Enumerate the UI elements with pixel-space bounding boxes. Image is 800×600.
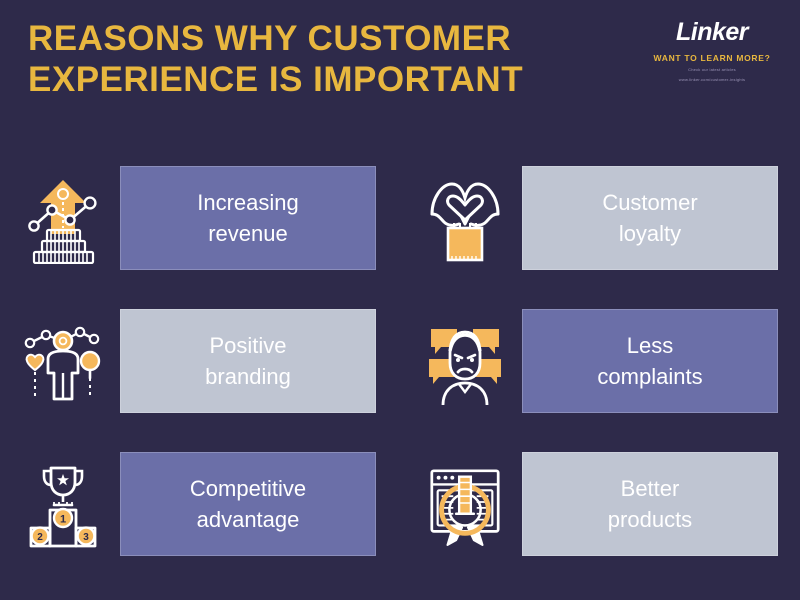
logo-subtext-line-1: Check our latest articles (652, 67, 772, 73)
growth-arrow-coins-icon (22, 170, 104, 266)
reasons-grid: Increasing revenue Customer loyalty (22, 148, 778, 574)
reason-label: Better products (608, 473, 692, 535)
svg-text:3: 3 (83, 532, 89, 543)
svg-text:2: 2 (37, 532, 43, 543)
reason-item-better-products: Better products (424, 434, 778, 574)
slide-canvas: REASONS WHY CUSTOMER EXPERIENCE IS IMPOR… (0, 0, 800, 600)
reason-label: Positive branding (205, 330, 291, 392)
reason-item-increasing-revenue: Increasing revenue (22, 148, 376, 288)
reason-card-positive-branding[interactable]: Positive branding (120, 309, 376, 413)
logo-subtext-line-2: www.linker.com/customer-insights (652, 77, 772, 83)
angry-person-speech-bubbles-icon (424, 313, 506, 409)
logo-tagline: WANT TO LEARN MORE? (652, 53, 772, 63)
reason-card-less-complaints[interactable]: Less complaints (522, 309, 778, 413)
reason-item-less-complaints: Less complaints (424, 291, 778, 431)
reason-card-competitive-advantage[interactable]: Competitive advantage (120, 452, 376, 556)
person-network-heart-icon (22, 313, 104, 409)
reason-item-competitive-advantage: 1 2 3 Competitive advantage (22, 434, 376, 574)
reason-card-better-products[interactable]: Better products (522, 452, 778, 556)
reason-card-customer-loyalty[interactable]: Customer loyalty (522, 166, 778, 270)
title-line-1: REASONS WHY CUSTOMER (28, 18, 548, 59)
hands-heart-shopping-bag-icon (424, 170, 506, 266)
reason-item-positive-branding: Positive branding (22, 291, 376, 431)
logo-wordmark: Linker (652, 18, 772, 46)
trophy-podium-medals-icon: 1 2 3 (22, 456, 104, 552)
page-title: REASONS WHY CUSTOMER EXPERIENCE IS IMPOR… (28, 18, 548, 100)
reason-card-increasing-revenue[interactable]: Increasing revenue (120, 166, 376, 270)
reason-label: Customer loyalty (602, 187, 697, 249)
brand-logo: Linker WANT TO LEARN MORE? Check our lat… (652, 18, 772, 82)
svg-text:1: 1 (60, 514, 66, 526)
reason-label: Increasing revenue (197, 187, 299, 249)
reason-label: Competitive advantage (190, 473, 306, 535)
reason-item-customer-loyalty: Customer loyalty (424, 148, 778, 288)
browser-award-ribbon-icon (424, 456, 506, 552)
title-line-2: EXPERIENCE IS IMPORTANT (28, 59, 548, 100)
reason-label: Less complaints (597, 330, 702, 392)
